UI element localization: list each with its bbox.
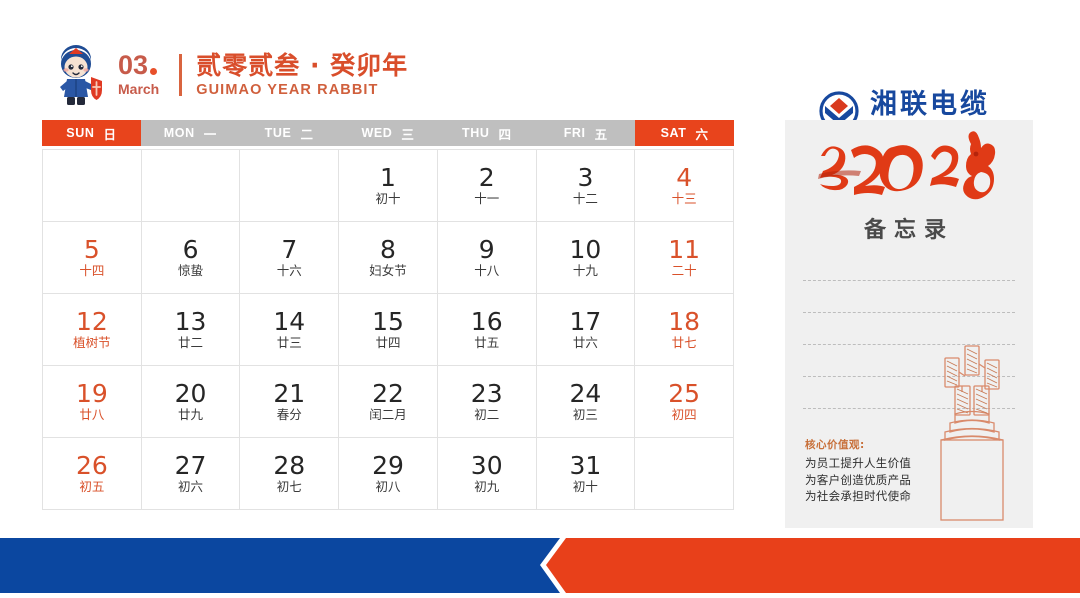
memo-title: 备忘录 xyxy=(785,212,1033,244)
calendar-day-cell[interactable]: 6惊蛰 xyxy=(142,222,241,294)
calendar: SUN日MON一TUE二WED三THU四FRI五SAT六 1初十2十一3十二4十… xyxy=(42,120,734,510)
day-lunar-label: 廿三 xyxy=(277,337,302,350)
calendar-day-cell[interactable]: 12植树节 xyxy=(43,294,142,366)
day-lunar-label: 廿六 xyxy=(573,337,598,350)
weekday-label-en: MON xyxy=(164,126,195,140)
weekday-label-en: FRI xyxy=(564,126,586,140)
weekday-header-sat: SAT六 xyxy=(635,120,734,146)
day-number: 29 xyxy=(372,453,404,478)
weekday-label-en: SAT xyxy=(661,126,687,140)
brush-calligraphy-2023-rabbit-icon xyxy=(785,130,1033,208)
month-number-row: 03 xyxy=(118,52,159,79)
day-lunar-label: 惊蛰 xyxy=(178,265,203,278)
calendar-day-cell[interactable]: 4十三 xyxy=(635,150,734,222)
calendar-day-cell[interactable]: 10十九 xyxy=(537,222,636,294)
weekday-label-cn: 六 xyxy=(695,124,708,143)
day-number: 2 xyxy=(479,165,495,190)
calendar-cell-empty xyxy=(240,150,339,222)
core-values-line: 为社会承担时代使命 xyxy=(805,488,975,505)
calendar-day-cell[interactable]: 17廿六 xyxy=(537,294,636,366)
calendar-day-cell[interactable]: 22闰二月 xyxy=(339,366,438,438)
weekday-header-row: SUN日MON一TUE二WED三THU四FRI五SAT六 xyxy=(42,120,734,146)
day-lunar-label: 初十 xyxy=(573,481,598,494)
calendar-day-cell[interactable]: 31初十 xyxy=(537,438,636,510)
calendar-day-cell[interactable]: 2十一 xyxy=(438,150,537,222)
day-lunar-label: 十四 xyxy=(79,265,104,278)
day-number: 18 xyxy=(668,309,700,334)
day-number: 8 xyxy=(380,237,396,262)
header-divider xyxy=(179,54,182,96)
calendar-day-cell[interactable]: 20廿九 xyxy=(142,366,241,438)
day-number: 28 xyxy=(273,453,305,478)
calendar-cell-empty xyxy=(43,150,142,222)
footer-red-shape xyxy=(546,538,1080,593)
day-number: 10 xyxy=(570,237,602,262)
day-number: 3 xyxy=(577,165,593,190)
day-lunar-label: 妇女节 xyxy=(369,265,407,278)
weekday-label-en: TUE xyxy=(265,126,292,140)
day-number: 15 xyxy=(372,309,404,334)
core-values-line: 为客户创造优质产品 xyxy=(805,472,975,489)
month-block: 03 March xyxy=(118,52,159,97)
weekday-header-tue: TUE二 xyxy=(240,120,339,146)
day-number: 4 xyxy=(676,165,692,190)
day-lunar-label: 廿四 xyxy=(375,337,400,350)
calendar-day-cell[interactable]: 28初七 xyxy=(240,438,339,510)
day-number: 1 xyxy=(380,165,396,190)
day-number: 22 xyxy=(372,381,404,406)
day-number: 16 xyxy=(471,309,503,334)
chinese-year-block: 贰零贰叁 · 癸卯年 GUIMAO YEAR RABBIT xyxy=(196,52,408,99)
day-number: 17 xyxy=(570,309,602,334)
calendar-cell-empty xyxy=(635,438,734,510)
day-lunar-label: 廿九 xyxy=(178,409,203,422)
weekday-label-cn: 二 xyxy=(300,124,313,143)
weekday-label-cn: 三 xyxy=(401,124,414,143)
day-lunar-label: 初三 xyxy=(573,409,598,422)
calendar-day-cell[interactable]: 13廿二 xyxy=(142,294,241,366)
calendar-cell-empty xyxy=(142,150,241,222)
calendar-day-cell[interactable]: 15廿四 xyxy=(339,294,438,366)
weekday-label-cn: 五 xyxy=(595,124,608,143)
month-number: 03 xyxy=(118,52,148,79)
calendar-day-grid: 1初十2十一3十二4十三5十四6惊蛰7十六8妇女节9十八10十九11二十12植树… xyxy=(42,149,734,510)
day-lunar-label: 春分 xyxy=(277,409,302,422)
footer-banner xyxy=(0,538,1080,593)
day-number: 14 xyxy=(273,309,305,334)
day-lunar-label: 初六 xyxy=(178,481,203,494)
day-lunar-label: 十一 xyxy=(474,193,499,206)
day-number: 11 xyxy=(668,237,700,262)
weekday-label-cn: 四 xyxy=(499,124,512,143)
calendar-day-cell[interactable]: 1初十 xyxy=(339,150,438,222)
calendar-day-cell[interactable]: 11二十 xyxy=(635,222,734,294)
day-number: 21 xyxy=(273,381,305,406)
day-lunar-label: 廿七 xyxy=(672,337,697,350)
day-lunar-label: 初九 xyxy=(474,481,499,494)
calendar-day-cell[interactable]: 18廿七 xyxy=(635,294,734,366)
weekday-label-cn: 日 xyxy=(103,124,116,143)
day-number: 27 xyxy=(175,453,207,478)
day-number: 26 xyxy=(76,453,108,478)
calendar-day-cell[interactable]: 5十四 xyxy=(43,222,142,294)
footer-blue-shape xyxy=(0,538,560,593)
day-lunar-label: 十三 xyxy=(672,193,697,206)
calendar-day-cell[interactable]: 21春分 xyxy=(240,366,339,438)
calendar-day-cell[interactable]: 14廿三 xyxy=(240,294,339,366)
weekday-label-cn: 一 xyxy=(204,124,217,143)
day-number: 20 xyxy=(175,381,207,406)
core-values-line: 为员工提升人生价值 xyxy=(805,455,975,472)
memo-panel: 备忘录 xyxy=(785,120,1033,528)
day-number: 23 xyxy=(471,381,503,406)
weekday-label-en: WED xyxy=(361,126,392,140)
company-name: 湘联电缆 xyxy=(870,91,990,118)
day-number: 24 xyxy=(570,381,602,406)
day-number: 12 xyxy=(76,309,108,334)
calendar-day-cell[interactable]: 29初八 xyxy=(339,438,438,510)
calendar-day-cell[interactable]: 23初二 xyxy=(438,366,537,438)
day-number: 9 xyxy=(479,237,495,262)
weekday-header-thu: THU四 xyxy=(437,120,536,146)
page-header: 03 March 贰零贰叁 · 癸卯年 GUIMAO YEAR RABBIT 湘… xyxy=(0,38,1080,114)
calendar-day-cell[interactable]: 8妇女节 xyxy=(339,222,438,294)
day-lunar-label: 初七 xyxy=(277,481,302,494)
memo-note-line[interactable] xyxy=(803,312,1015,313)
day-number: 31 xyxy=(570,453,602,478)
day-number: 13 xyxy=(175,309,207,334)
calendar-day-cell[interactable]: 24初三 xyxy=(537,366,636,438)
brand-block: 03 March 贰零贰叁 · 癸卯年 GUIMAO YEAR RABBIT xyxy=(50,44,408,106)
day-lunar-label: 二十 xyxy=(672,265,697,278)
calendar-day-cell[interactable]: 27初六 xyxy=(142,438,241,510)
day-lunar-label: 十六 xyxy=(277,265,302,278)
day-lunar-label: 初四 xyxy=(672,409,697,422)
calendar-day-cell[interactable]: 30初九 xyxy=(438,438,537,510)
calendar-day-cell[interactable]: 7十六 xyxy=(240,222,339,294)
calendar-day-cell[interactable]: 19廿八 xyxy=(43,366,142,438)
memo-note-line[interactable] xyxy=(803,280,1015,281)
core-values-title: 核心价值观: xyxy=(805,437,975,452)
day-lunar-label: 闰二月 xyxy=(369,409,407,422)
weekday-header-mon: MON一 xyxy=(141,120,240,146)
day-lunar-label: 植树节 xyxy=(73,337,111,350)
mascot-engineer-icon xyxy=(50,44,110,106)
weekday-header-sun: SUN日 xyxy=(42,120,141,146)
day-number: 25 xyxy=(668,381,700,406)
day-number: 19 xyxy=(76,381,108,406)
core-values-block: 核心价值观: 为员工提升人生价值 为客户创造优质产品 为社会承担时代使命 xyxy=(805,437,975,505)
weekday-label-en: THU xyxy=(462,126,490,140)
calendar-day-cell[interactable]: 3十二 xyxy=(537,150,636,222)
day-number: 30 xyxy=(471,453,503,478)
day-number: 7 xyxy=(281,237,297,262)
day-lunar-label: 廿八 xyxy=(79,409,104,422)
day-lunar-label: 初十 xyxy=(375,193,400,206)
day-lunar-label: 十九 xyxy=(573,265,598,278)
calendar-day-cell[interactable]: 25初四 xyxy=(635,366,734,438)
calendar-day-cell[interactable]: 9十八 xyxy=(438,222,537,294)
day-number: 6 xyxy=(183,237,199,262)
chinese-year-title: 贰零贰叁 · 癸卯年 xyxy=(196,52,408,81)
day-lunar-label: 廿二 xyxy=(178,337,203,350)
day-lunar-label: 初二 xyxy=(474,409,499,422)
month-name: March xyxy=(118,82,159,97)
day-lunar-label: 初五 xyxy=(79,481,104,494)
day-lunar-label: 初八 xyxy=(375,481,400,494)
day-number: 5 xyxy=(84,237,100,262)
day-lunar-label: 十二 xyxy=(573,193,598,206)
day-lunar-label: 十八 xyxy=(474,265,499,278)
calendar-day-cell[interactable]: 16廿五 xyxy=(438,294,537,366)
month-dot-icon xyxy=(150,68,157,75)
weekday-header-fri: FRI五 xyxy=(536,120,635,146)
calendar-day-cell[interactable]: 26初五 xyxy=(43,438,142,510)
weekday-label-en: SUN xyxy=(66,126,94,140)
day-lunar-label: 廿五 xyxy=(474,337,499,350)
english-year-subtitle: GUIMAO YEAR RABBIT xyxy=(196,82,408,98)
weekday-header-wed: WED三 xyxy=(339,120,438,146)
